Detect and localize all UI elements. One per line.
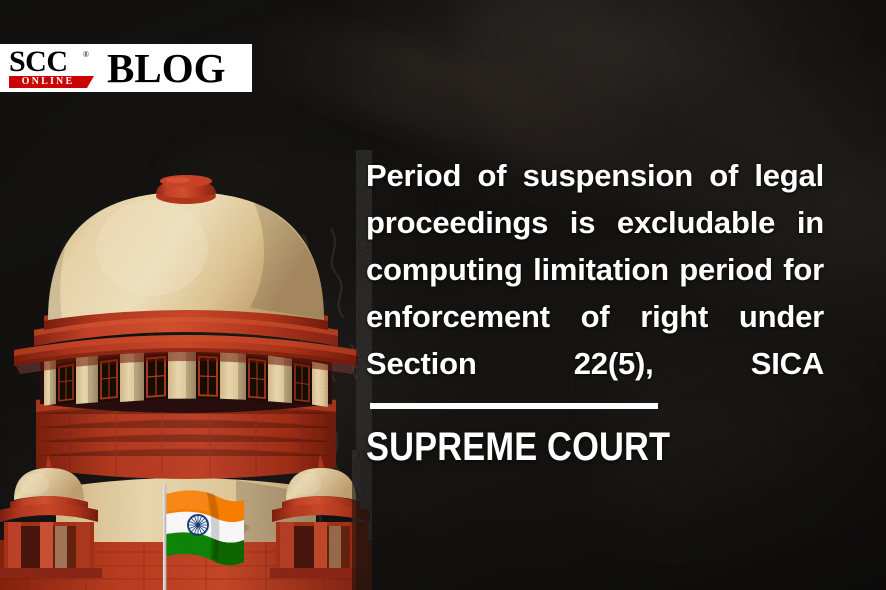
headline-text: Period of suspension of legal proceeding… bbox=[366, 152, 824, 434]
headline-block: Period of suspension of legal proceeding… bbox=[366, 152, 824, 434]
supreme-court-building-illustration bbox=[0, 150, 372, 590]
blog-wordmark: BLOG bbox=[107, 48, 225, 89]
scc-online-mark: SCC ® ONLINE bbox=[9, 48, 91, 88]
scc-online-blog-logo[interactable]: SCC ® ONLINE BLOG bbox=[0, 44, 252, 92]
online-badge: ONLINE bbox=[9, 76, 87, 88]
court-name-label: SUPREME COURT bbox=[366, 424, 670, 470]
scc-wordmark: SCC bbox=[9, 48, 91, 75]
blog-banner: SCC ® ONLINE BLOG Period of suspension o… bbox=[0, 0, 886, 590]
divider-rule bbox=[370, 403, 658, 409]
registered-trademark-icon: ® bbox=[83, 50, 89, 59]
